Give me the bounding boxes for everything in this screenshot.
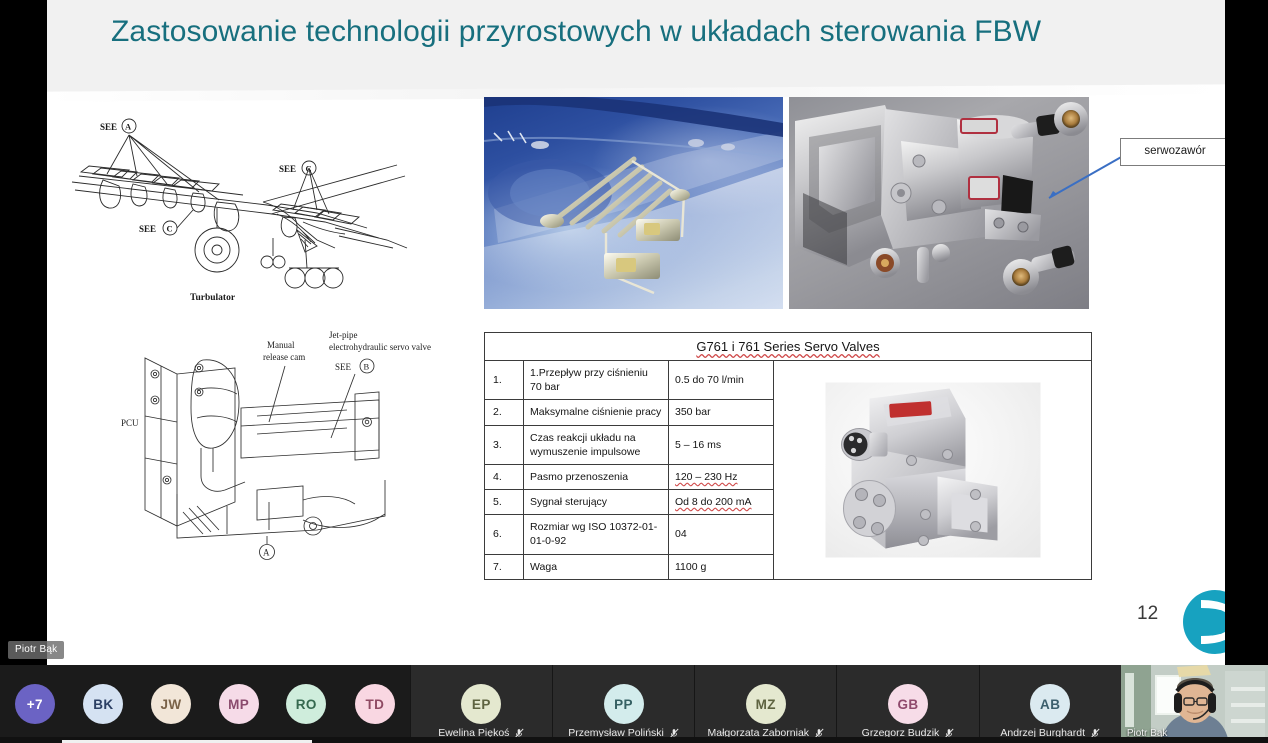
avatar: AB bbox=[1030, 684, 1070, 724]
servo-valve-photo bbox=[825, 382, 1040, 557]
avatar: RO bbox=[286, 684, 326, 724]
svg-text:SEE: SEE bbox=[100, 122, 117, 132]
wing-actuation-render-photo bbox=[484, 97, 783, 309]
callout-serwozawor: serwozawór bbox=[1120, 138, 1225, 166]
avatar-initials: TD bbox=[366, 697, 385, 712]
avatar-initials: BK bbox=[93, 697, 113, 712]
svg-text:Manual: Manual bbox=[267, 340, 295, 350]
avatar: MP bbox=[219, 684, 259, 724]
avatar-initials: GB bbox=[897, 697, 918, 712]
avatar-initials: +7 bbox=[27, 697, 43, 712]
svg-text:release cam: release cam bbox=[263, 352, 305, 362]
servo-valve-photo-cell bbox=[774, 361, 1092, 580]
meeting-window: Zastosowanie technologii przyrostowych w… bbox=[0, 0, 1268, 743]
avatar-initials: AB bbox=[1040, 697, 1060, 712]
spec-table-body: 1. 1.Przepływ przy ciśnieniu 70 bar 0.5 … bbox=[485, 361, 1092, 580]
participant-tile-malgorzata-zaborniak[interactable]: MZ Małgorzata Zaborniak bbox=[694, 665, 836, 743]
active-speaker-video-tile[interactable]: Piotr Bąk bbox=[1121, 665, 1268, 743]
taskbar bbox=[0, 737, 1268, 743]
participant-tile-andrzej-burghardt[interactable]: AB Andrzej Burghardt bbox=[979, 665, 1121, 743]
svg-text:SEE: SEE bbox=[279, 164, 296, 174]
participant-tile-td[interactable]: TD bbox=[340, 665, 410, 743]
avatar: BK bbox=[83, 684, 123, 724]
svg-text:A: A bbox=[263, 548, 270, 558]
svg-text:SEE: SEE bbox=[335, 362, 352, 372]
avatar: TD bbox=[355, 684, 395, 724]
participant-tile-mp[interactable]: MP bbox=[205, 665, 273, 743]
avatar-initials: MZ bbox=[756, 697, 776, 712]
page-title: Zastosowanie technologii przyrostowych w… bbox=[111, 12, 1061, 53]
svg-text:C: C bbox=[306, 164, 312, 174]
svg-text:SEE: SEE bbox=[139, 224, 156, 234]
avatar: GB bbox=[888, 684, 928, 724]
svg-text:B: B bbox=[364, 362, 370, 372]
avatar: MZ bbox=[746, 684, 786, 724]
participant-tile-ro[interactable]: RO bbox=[272, 665, 340, 743]
table-row: 1. 1.Przepływ przy ciśnieniu 70 bar 0.5 … bbox=[485, 361, 1092, 400]
avatar-initials: JW bbox=[161, 697, 182, 712]
aircraft-wing-drawing: SEE A SEE C SEE C Turbulator bbox=[67, 110, 417, 310]
participant-tile-przemyslaw-polinski[interactable]: PP Przemysław Poliński bbox=[552, 665, 694, 743]
avatar-initials: MP bbox=[228, 697, 249, 712]
shared-screen-stage[interactable]: Zastosowanie technologii przyrostowych w… bbox=[0, 0, 1268, 665]
svg-text:Jet-pipe: Jet-pipe bbox=[329, 330, 358, 340]
svg-text:C: C bbox=[167, 224, 173, 234]
avatar-initials: EP bbox=[472, 697, 491, 712]
participant-overflow-tile[interactable]: +7 bbox=[0, 665, 70, 743]
participant-tile-bk[interactable]: BK bbox=[70, 665, 138, 743]
avatar-initials: PP bbox=[614, 697, 633, 712]
svg-text:A: A bbox=[125, 122, 132, 132]
presenter-name-badge: Piotr Bąk bbox=[8, 641, 64, 659]
svg-text:Turbulator: Turbulator bbox=[190, 293, 236, 303]
avatar: PP bbox=[604, 684, 644, 724]
pcu-servo-valve-drawing: Manual release cam Jet-pipe electrohydra… bbox=[117, 330, 447, 560]
servo-valve-spec-table: G761 i 761 Series Servo Valves 1. 1.Prze… bbox=[484, 332, 1092, 580]
avatar: JW bbox=[151, 684, 191, 724]
avatar: +7 bbox=[15, 684, 55, 724]
presentation-slide: Zastosowanie technologii przyrostowych w… bbox=[47, 0, 1225, 665]
participant-tile-ewelina-piekos[interactable]: EP Ewelina Piękoś bbox=[410, 665, 552, 743]
participant-strip: +7 BK JW MP RO TD bbox=[0, 665, 1268, 743]
avatar: EP bbox=[461, 684, 501, 724]
spec-table-header: G761 i 761 Series Servo Valves bbox=[485, 333, 1092, 361]
participant-tile-jw[interactable]: JW bbox=[137, 665, 205, 743]
avatar-initials: RO bbox=[296, 697, 317, 712]
participant-tile-grzegorz-budzik[interactable]: GB Grzegorz Budzik bbox=[836, 665, 978, 743]
hydraulic-actuator-photo bbox=[789, 97, 1089, 309]
svg-text:electrohydraulic servo valve: electrohydraulic servo valve bbox=[329, 342, 431, 352]
organization-logo-icon bbox=[1181, 588, 1225, 656]
svg-text:PCU: PCU bbox=[121, 418, 139, 428]
slide-page-number: 12 bbox=[1137, 603, 1158, 625]
